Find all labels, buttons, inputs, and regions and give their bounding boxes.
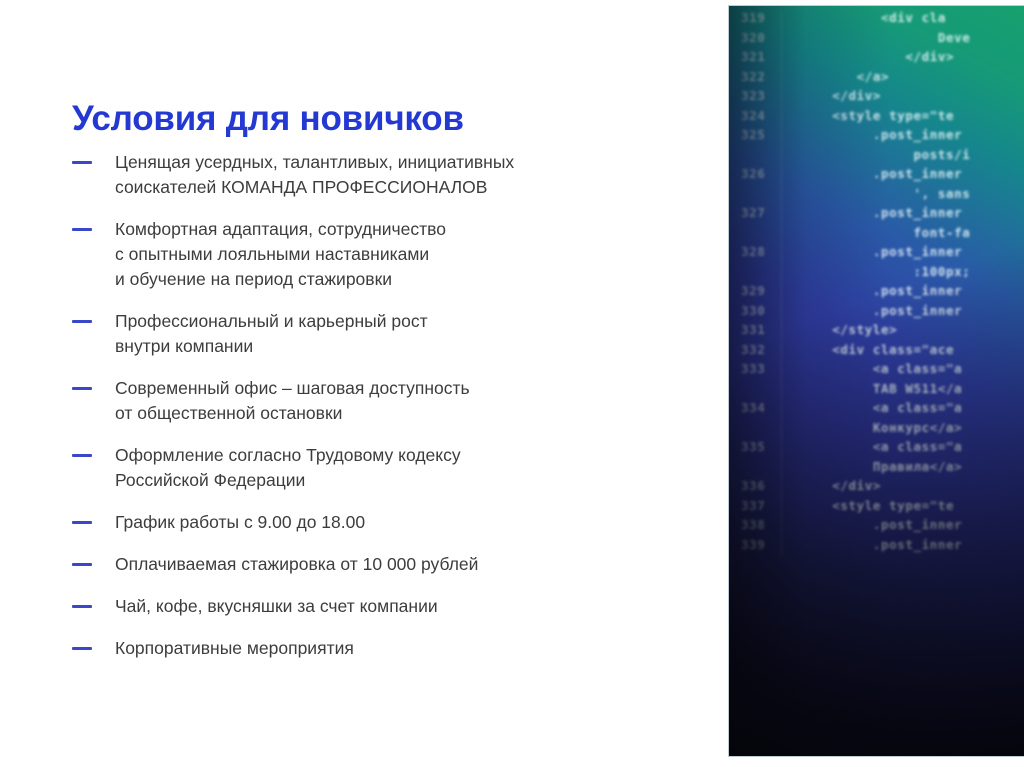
- bullet-item: Современный офис – шаговая доступность о…: [72, 376, 692, 426]
- bullet-text: Корпоративные мероприятия: [115, 636, 692, 661]
- dash-bullet-icon: [72, 521, 92, 524]
- dash-bullet-icon: [72, 454, 92, 457]
- bullet-item: Профессиональный и карьерный рост внутри…: [72, 309, 692, 359]
- bullet-item: Оплачиваемая стажировка от 10 000 рублей: [72, 552, 692, 577]
- benefits-bullet-list: Ценящая усердных, талантливых, инициатив…: [72, 150, 692, 678]
- bullet-text: Чай, кофе, вкусняшки за счет компании: [115, 594, 692, 619]
- dash-bullet-icon: [72, 161, 92, 164]
- slide-content-area: Условия для новичков Ценящая усердных, т…: [0, 0, 728, 767]
- dash-bullet-icon: [72, 387, 92, 390]
- bullet-text: Оплачиваемая стажировка от 10 000 рублей: [115, 552, 692, 577]
- bullet-text: Оформление согласно Трудовому кодексу Ро…: [115, 443, 692, 493]
- bullet-item: Оформление согласно Трудовому кодексу Ро…: [72, 443, 692, 493]
- code-screenshot-panel: 319 <div cla320 Deve321 </div>322 </a>32…: [729, 6, 1024, 756]
- bullet-text: График работы с 9.00 до 18.00: [115, 510, 692, 535]
- dash-bullet-icon: [72, 647, 92, 650]
- bullet-text: Ценящая усердных, талантливых, инициатив…: [115, 150, 692, 200]
- dash-bullet-icon: [72, 605, 92, 608]
- bullet-item: Корпоративные мероприятия: [72, 636, 692, 661]
- bullet-item: Комфортная адаптация, сотрудничество с о…: [72, 217, 692, 292]
- bullet-item: Чай, кофе, вкусняшки за счет компании: [72, 594, 692, 619]
- bullet-item: График работы с 9.00 до 18.00: [72, 510, 692, 535]
- slide-root: Условия для новичков Ценящая усердных, т…: [0, 0, 1024, 767]
- bullet-text: Комфортная адаптация, сотрудничество с о…: [115, 217, 692, 292]
- bullet-text: Профессиональный и карьерный рост внутри…: [115, 309, 692, 359]
- dash-bullet-icon: [72, 320, 92, 323]
- code-panel-vignette: [729, 6, 1024, 756]
- dash-bullet-icon: [72, 563, 92, 566]
- bullet-item: Ценящая усердных, талантливых, инициатив…: [72, 150, 692, 200]
- bullet-text: Современный офис – шаговая доступность о…: [115, 376, 692, 426]
- dash-bullet-icon: [72, 228, 92, 231]
- page-title: Условия для новичков: [72, 99, 464, 139]
